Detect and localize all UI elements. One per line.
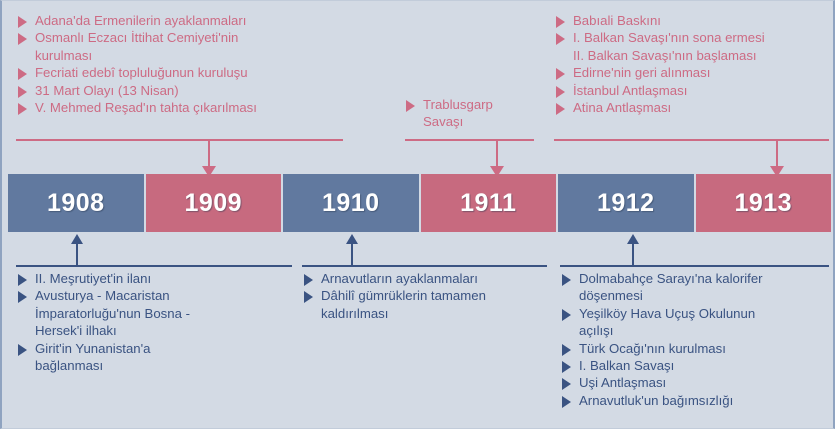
event-item: Trablusgarp <box>404 97 534 113</box>
year-block-1909[interactable]: 1909 <box>146 174 282 232</box>
connector-rule-1912 <box>560 265 829 267</box>
event-group-1909: Adana'da Ermenilerin ayaklanmaları Osman… <box>16 13 346 117</box>
event-item-continuation: Savaşı <box>404 114 534 130</box>
event-item: I. Balkan Savaşı'nın sona ermesi <box>554 30 829 46</box>
event-item: Girit'in Yunanistan'a <box>16 341 296 357</box>
event-text: Arnavutların ayaklanmaları <box>321 271 478 286</box>
event-item: İstanbul Antlaşması <box>554 83 829 99</box>
event-item-continuation: kaldırılması <box>302 306 552 322</box>
connector-rule-1908 <box>16 265 292 267</box>
event-text: bağlanması <box>35 358 103 373</box>
event-text: I. Balkan Savaşı <box>579 358 674 373</box>
connector-rule-1910 <box>302 265 547 267</box>
event-list-1913: Babıali Baskını I. Balkan Savaşı'nın son… <box>554 13 829 116</box>
connector-rule-1911 <box>405 139 534 141</box>
year-block-1908[interactable]: 1908 <box>8 174 144 232</box>
event-item: Arnavutların ayaklanmaları <box>302 271 552 287</box>
connector-stem-1913 <box>776 139 778 167</box>
event-text: V. Mehmed Reşad'ın tahta çıkarılması <box>35 100 257 115</box>
triangle-bullet-icon <box>562 361 571 373</box>
triangle-bullet-icon <box>562 344 571 356</box>
event-text: Yeşilköy Hava Uçuş Okulunun <box>579 306 755 321</box>
event-item-continuation: kurulması <box>16 48 346 64</box>
event-group-1910: Arnavutların ayaklanmaları Dâhilî gümrük… <box>302 271 552 323</box>
event-item: V. Mehmed Reşad'ın tahta çıkarılması <box>16 100 346 116</box>
triangle-bullet-icon <box>18 274 27 286</box>
event-item-continuation: bağlanması <box>16 358 296 374</box>
event-text: Dâhilî gümrüklerin tamamen <box>321 288 486 303</box>
triangle-bullet-icon <box>18 68 27 80</box>
event-item-continuation: Hersek'i ilhakı <box>16 323 296 339</box>
triangle-bullet-icon <box>18 86 27 98</box>
triangle-bullet-icon <box>562 396 571 408</box>
triangle-bullet-icon <box>18 33 27 45</box>
event-group-1911: Trablusgarp Savaşı <box>404 97 534 132</box>
connector-stem-1912 <box>632 243 634 267</box>
event-group-1912: Dolmabahçe Sarayı'na kalorifer döşenmesi… <box>560 271 832 410</box>
triangle-bullet-icon <box>556 103 565 115</box>
event-text: Trablusgarp <box>423 97 493 112</box>
event-text: İmparatorluğu'nun Bosna - <box>35 306 190 321</box>
triangle-bullet-icon <box>18 16 27 28</box>
year-strip: 1908 1909 1910 1911 1912 1913 <box>8 174 831 232</box>
event-text: II. Meşrutiyet'in ilanı <box>35 271 151 286</box>
event-text: Babıali Baskını <box>573 13 661 28</box>
connector-stem-1908 <box>76 243 78 267</box>
connector-stem-1911 <box>496 139 498 167</box>
event-item: Atina Antlaşması <box>554 100 829 116</box>
event-item: Türk Ocağı'nın kurulması <box>560 341 832 357</box>
event-text: 31 Mart Olayı (13 Nisan) <box>35 83 179 98</box>
event-list-1908: II. Meşrutiyet'in ilanı Avusturya - Maca… <box>16 271 296 374</box>
event-item: Adana'da Ermenilerin ayaklanmaları <box>16 13 346 29</box>
triangle-bullet-icon <box>556 16 565 28</box>
event-item: Osmanlı Eczacı İttihat Cemiyeti'nin <box>16 30 346 46</box>
year-block-1911[interactable]: 1911 <box>421 174 557 232</box>
triangle-bullet-icon <box>304 274 313 286</box>
triangle-bullet-icon <box>556 68 565 80</box>
event-text: II. Balkan Savaşı'nın başlaması <box>573 48 757 63</box>
triangle-bullet-icon <box>556 33 565 45</box>
event-text: Uşi Antlaşması <box>579 375 666 390</box>
event-text: kurulması <box>35 48 92 63</box>
event-text: Türk Ocağı'nın kurulması <box>579 341 726 356</box>
connector-rule-1909 <box>16 139 343 141</box>
event-text: I. Balkan Savaşı'nın sona ermesi <box>573 30 765 45</box>
triangle-bullet-icon <box>304 291 313 303</box>
triangle-bullet-icon <box>18 103 27 115</box>
event-text: Fecriati edebî topluluğunun kuruluşu <box>35 65 248 80</box>
event-text: Arnavutluk'un bağımsızlığı <box>579 393 733 408</box>
event-text: Adana'da Ermenilerin ayaklanmaları <box>35 13 246 28</box>
event-text: Osmanlı Eczacı İttihat Cemiyeti'nin <box>35 30 238 45</box>
year-block-1912[interactable]: 1912 <box>558 174 694 232</box>
event-item-continuation: II. Balkan Savaşı'nın başlaması <box>554 48 829 64</box>
event-item-continuation: açılışı <box>560 323 832 339</box>
event-item: I. Balkan Savaşı <box>560 358 832 374</box>
event-group-1908: II. Meşrutiyet'in ilanı Avusturya - Maca… <box>16 271 296 375</box>
event-item: Uşi Antlaşması <box>560 375 832 391</box>
triangle-bullet-icon <box>562 309 571 321</box>
event-item-continuation: İmparatorluğu'nun Bosna - <box>16 306 296 322</box>
event-item: Arnavutluk'un bağımsızlığı <box>560 393 832 409</box>
event-text: Hersek'i ilhakı <box>35 323 117 338</box>
connector-stem-1909 <box>208 139 210 167</box>
event-item: 31 Mart Olayı (13 Nisan) <box>16 83 346 99</box>
event-text: Atina Antlaşması <box>573 100 671 115</box>
event-item: Edirne'nin geri alınması <box>554 65 829 81</box>
event-text: Girit'in Yunanistan'a <box>35 341 151 356</box>
event-list-1912: Dolmabahçe Sarayı'na kalorifer döşenmesi… <box>560 271 832 409</box>
event-text: Avusturya - Macaristan <box>35 288 170 303</box>
triangle-bullet-icon <box>18 291 27 303</box>
event-list-1910: Arnavutların ayaklanmaları Dâhilî gümrük… <box>302 271 552 322</box>
year-block-1913[interactable]: 1913 <box>696 174 832 232</box>
event-item-continuation: döşenmesi <box>560 288 832 304</box>
connector-stem-1910 <box>351 243 353 267</box>
connector-rule-1913 <box>554 139 829 141</box>
event-item: Avusturya - Macaristan <box>16 288 296 304</box>
event-list-1911: Trablusgarp Savaşı <box>404 97 534 131</box>
event-item: Fecriati edebî topluluğunun kuruluşu <box>16 65 346 81</box>
event-text: açılışı <box>579 323 613 338</box>
event-item: II. Meşrutiyet'in ilanı <box>16 271 296 287</box>
event-text: Edirne'nin geri alınması <box>573 65 710 80</box>
event-item: Babıali Baskını <box>554 13 829 29</box>
event-group-1913: Babıali Baskını I. Balkan Savaşı'nın son… <box>554 13 829 117</box>
triangle-bullet-icon <box>406 100 415 112</box>
timeline-infographic: Adana'da Ermenilerin ayaklanmaları Osman… <box>0 0 835 429</box>
event-text: kaldırılması <box>321 306 388 321</box>
triangle-bullet-icon <box>562 274 571 286</box>
event-item: Yeşilköy Hava Uçuş Okulunun <box>560 306 832 322</box>
event-item: Dolmabahçe Sarayı'na kalorifer <box>560 271 832 287</box>
triangle-bullet-icon <box>562 378 571 390</box>
triangle-bullet-icon <box>556 86 565 98</box>
event-text: İstanbul Antlaşması <box>573 83 687 98</box>
triangle-bullet-icon <box>18 344 27 356</box>
event-text: Dolmabahçe Sarayı'na kalorifer <box>579 271 763 286</box>
event-text: Savaşı <box>423 114 463 129</box>
event-text: döşenmesi <box>579 288 643 303</box>
year-block-1910[interactable]: 1910 <box>283 174 419 232</box>
event-item: Dâhilî gümrüklerin tamamen <box>302 288 552 304</box>
event-list-1909: Adana'da Ermenilerin ayaklanmaları Osman… <box>16 13 346 116</box>
